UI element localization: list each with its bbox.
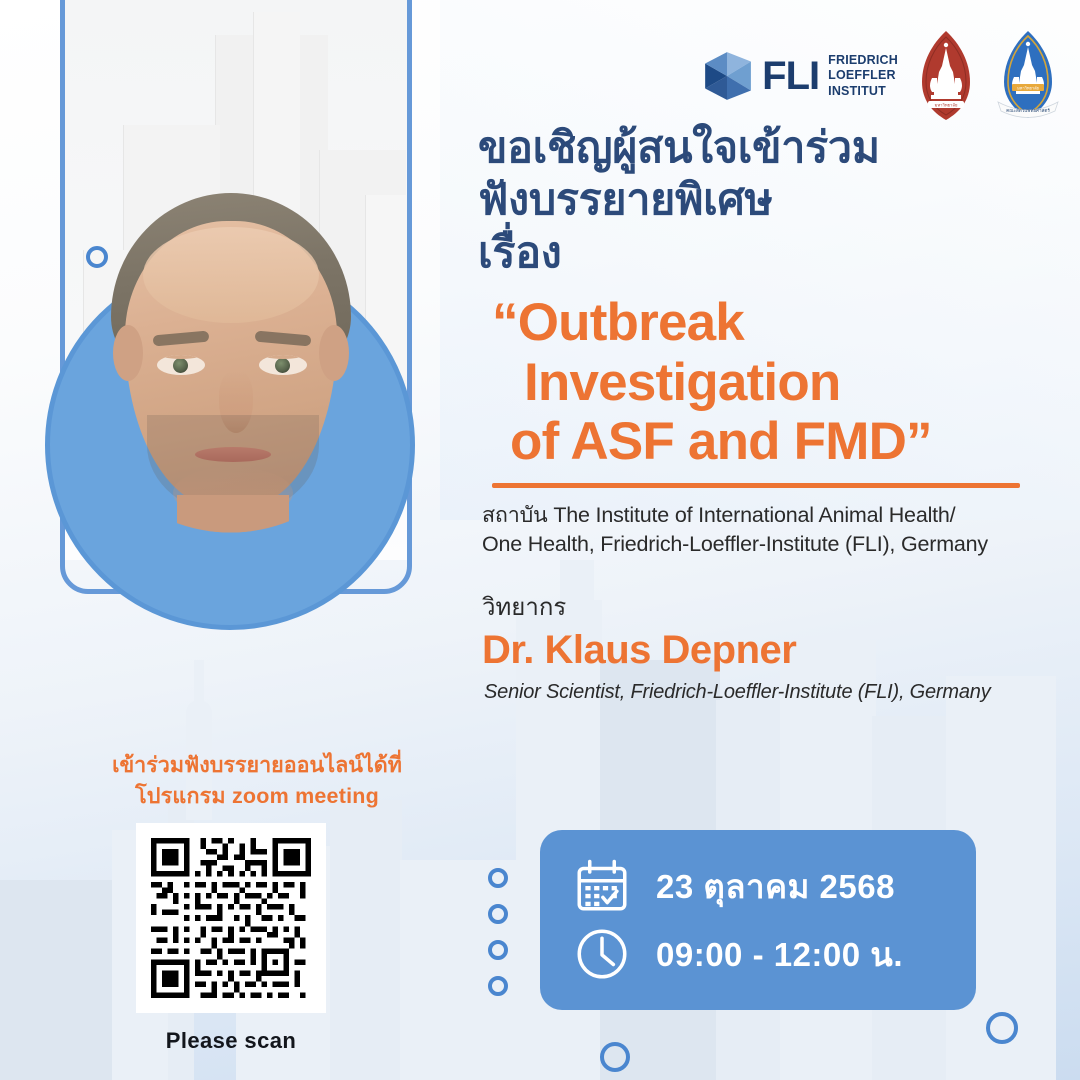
main-content: ขอเชิญผู้สนใจเข้าร่วม ฟังบรรยายพิเศษ เรื… xyxy=(478,122,1034,704)
calendar-icon xyxy=(574,858,630,914)
schedule-date-row: 23 ตุลาคม 2568 xyxy=(574,858,976,914)
poster-canvas: FLI FRIEDRICH LOEFFLER INSTITUT มหาวิทยา… xyxy=(0,0,1080,1080)
svg-text:คณะสัตวแพทยศาสตร์: คณะสัตวแพทยศาสตร์ xyxy=(1006,107,1050,113)
page-title: ขอเชิญผู้สนใจเข้าร่วม ฟังบรรยายพิเศษ เรื… xyxy=(478,122,1034,279)
schedule-date: 23 ตุลาคม 2568 xyxy=(656,860,895,913)
university-emblem-red: มหาวิทยาลัย xyxy=(912,28,980,124)
ear-left xyxy=(113,325,143,381)
talk-title: “Outbreak Investigation of ASF and FMD” xyxy=(492,293,1034,471)
svg-text:มหาวิทยาลัย: มหาวิทยาลัย xyxy=(935,103,958,108)
zoom-instructions: เข้าร่วมฟังบรรยายออนไลน์ได้ที่ โปรแกรม z… xyxy=(92,750,422,811)
mouth xyxy=(195,447,271,462)
decorative-ring-dot xyxy=(488,976,508,996)
ear-right xyxy=(319,325,349,381)
clock-icon xyxy=(574,926,630,982)
fli-subtext-line-1: FRIEDRICH xyxy=(828,53,898,68)
speaker-role: Senior Scientist, Friedrich-Loeffler-Ins… xyxy=(484,681,1034,704)
title-underline-divider xyxy=(492,483,1020,488)
decorative-ring-dot xyxy=(488,940,508,960)
affiliation-line-1: สถาบัน The Institute of International An… xyxy=(482,501,1034,530)
decorative-ring-dot xyxy=(488,904,508,924)
affiliation-line-2: One Health, Friedrich-Loeffler-Institute… xyxy=(482,530,1034,559)
forehead xyxy=(143,227,319,323)
fli-logo: FLI FRIEDRICH LOEFFLER INSTITUT xyxy=(701,50,898,102)
talk-title-line-1: “Outbreak xyxy=(492,293,1034,352)
eye-right xyxy=(259,355,307,375)
schedule-card: 23 ตุลาคม 2568 09:00 - 12:00 น. xyxy=(540,830,976,1010)
fli-wordmark: FLI xyxy=(762,56,819,96)
talk-title-line-2: Investigation xyxy=(524,353,1034,412)
decorative-ring-dot xyxy=(488,868,508,888)
fli-subtext-line-3: INSTITUT xyxy=(828,84,898,99)
talk-title-line-3: of ASF and FMD” xyxy=(510,412,1034,471)
avatar xyxy=(45,175,415,630)
decorative-ring-large-bottom xyxy=(600,1042,630,1072)
svg-text:มหาวิทยาลัย: มหาวิทยาลัย xyxy=(1017,85,1039,90)
qr-code-card[interactable] xyxy=(136,823,326,1013)
schedule-time: 09:00 - 12:00 น. xyxy=(656,928,903,981)
headline-line-2: ฟังบรรยายพิเศษ xyxy=(478,174,1034,226)
fli-mark-icon xyxy=(701,50,753,102)
decorative-dot-column xyxy=(488,868,508,996)
eye-left xyxy=(157,355,205,375)
schedule-time-row: 09:00 - 12:00 น. xyxy=(574,926,976,982)
logo-group: FLI FRIEDRICH LOEFFLER INSTITUT มหาวิทยา… xyxy=(701,28,1062,124)
headline-line-3: เรื่อง xyxy=(478,227,1034,279)
university-emblem-blue: มหาวิทยาลัย คณะสัตวแพทยศาสตร์ xyxy=(994,28,1062,124)
affiliation: สถาบัน The Institute of International An… xyxy=(482,501,1034,559)
qr-code[interactable] xyxy=(151,838,311,998)
qr-caption: Please scan xyxy=(96,1028,366,1054)
fli-subtext: FRIEDRICH LOEFFLER INSTITUT xyxy=(828,53,898,99)
decorative-ring-large-right xyxy=(986,1012,1018,1044)
zoom-instructions-line-1: เข้าร่วมฟังบรรยายออนไลน์ได้ที่ xyxy=(92,750,422,781)
speaker-name: Dr. Klaus Depner xyxy=(482,628,1034,673)
zoom-instructions-line-2: โปรแกรม zoom meeting xyxy=(92,781,422,812)
fli-subtext-line-2: LOEFFLER xyxy=(828,68,898,83)
headline-line-1: ขอเชิญผู้สนใจเข้าร่วม xyxy=(478,122,1034,174)
speaker-label: วิทยากร xyxy=(482,587,1034,626)
